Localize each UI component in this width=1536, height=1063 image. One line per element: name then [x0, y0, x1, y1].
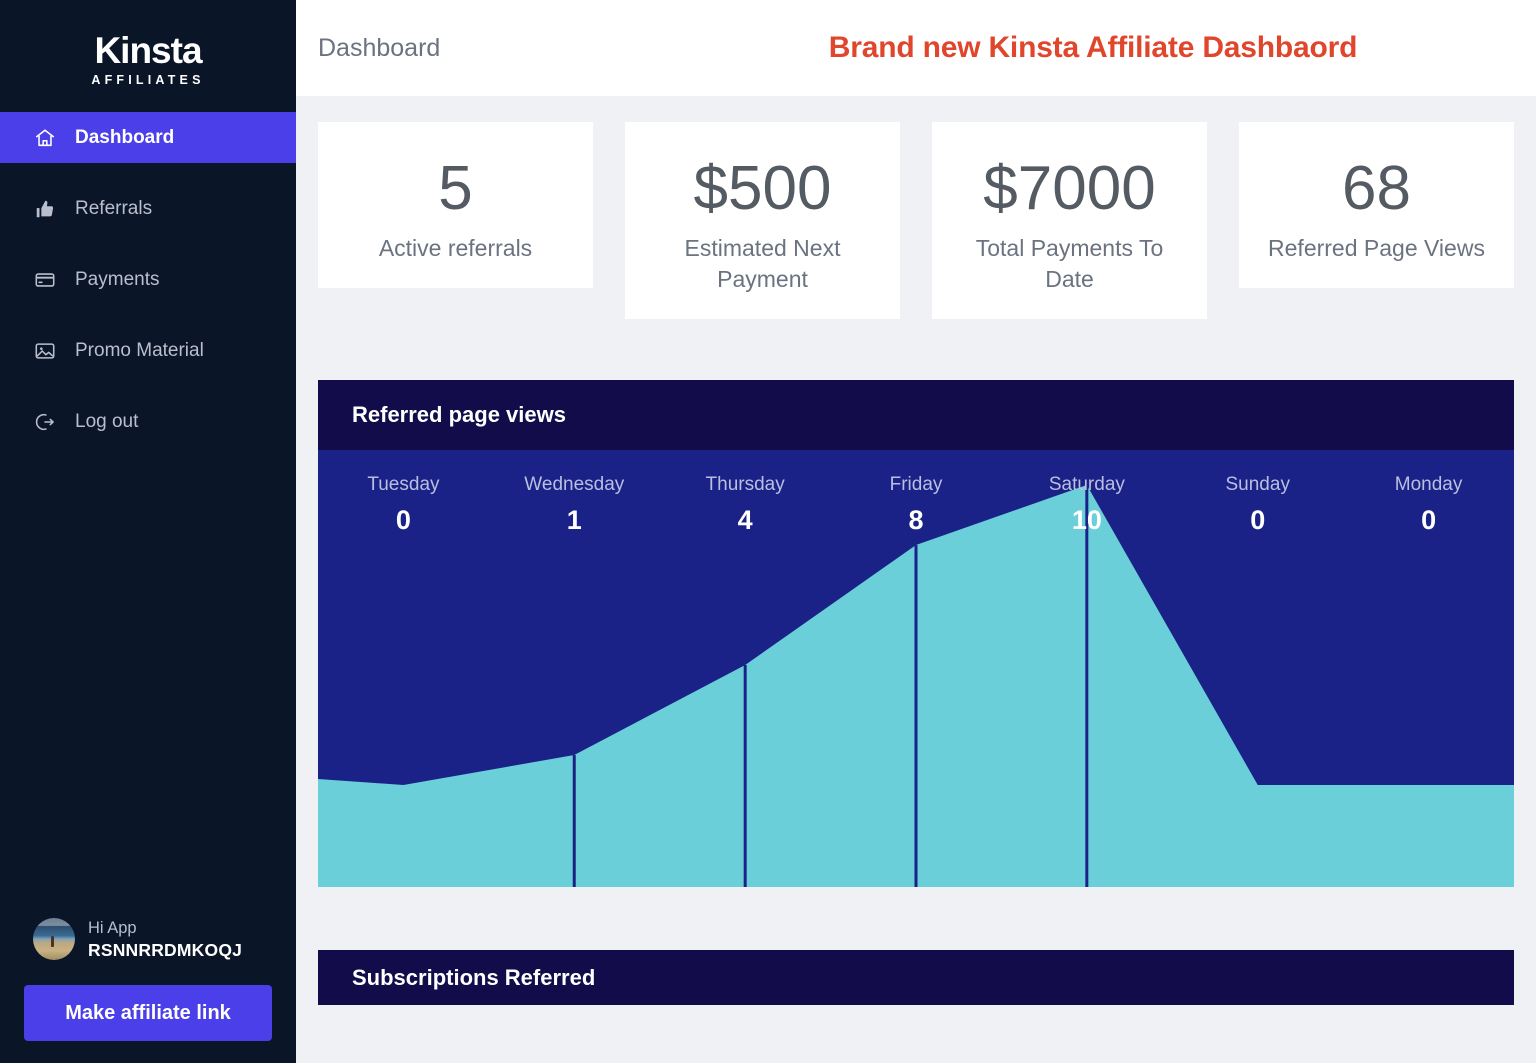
chart-day-name: Tuesday	[318, 474, 489, 497]
subscriptions-referred-panel: Subscriptions Referred	[318, 950, 1514, 1005]
sidebar-item-label: Promo Material	[75, 340, 204, 362]
chart-day-column: Monday 0	[1343, 474, 1514, 535]
stat-card-row: 5 Active referrals $500 Estimated Next P…	[318, 122, 1514, 319]
sidebar-nav: Dashboard Referrals	[0, 112, 296, 467]
sidebar: Kinsta AFFILIATES Dashboard	[0, 0, 296, 1063]
chart-day-value: 8	[831, 506, 1002, 536]
sidebar-item-label: Log out	[75, 411, 138, 433]
stat-label: Estimated Next Payment	[625, 233, 900, 295]
chart-day-strip: Tuesday 0 Wednesday 1 Thursday 4 Frida	[318, 450, 1514, 535]
brand-logo-main: Kinsta	[94, 32, 201, 69]
avatar	[33, 918, 75, 960]
stat-card-estimated-next-payment: $500 Estimated Next Payment	[625, 122, 900, 319]
chart-day-column: Friday 8	[831, 474, 1002, 535]
sidebar-item-referrals[interactable]: Referrals	[0, 183, 296, 234]
referred-page-views-panel: Referred page views Tuesday 0 Wednesday …	[318, 380, 1514, 887]
chart-day-name: Sunday	[1172, 474, 1343, 497]
chart-body: Tuesday 0 Wednesday 1 Thursday 4 Frida	[318, 450, 1514, 887]
brand-logo-sub: AFFILIATES	[91, 74, 204, 87]
user-text: Hi App RSNNRRDMKOQJ	[88, 918, 242, 962]
chart-day-column: Sunday 0	[1172, 474, 1343, 535]
app-root: Kinsta AFFILIATES Dashboard	[0, 0, 1536, 1063]
stat-value: $500	[625, 156, 900, 221]
page-headline: Brand new Kinsta Affiliate Dashbaord	[829, 31, 1357, 65]
sidebar-spacer	[0, 467, 296, 918]
thumbs-up-icon	[34, 198, 56, 220]
stat-value: 5	[318, 156, 593, 221]
top-bar: Dashboard Brand new Kinsta Affiliate Das…	[296, 0, 1536, 96]
sidebar-item-label: Payments	[75, 269, 159, 291]
sidebar-item-payments[interactable]: Payments	[0, 254, 296, 305]
panel-title: Referred page views	[352, 402, 566, 428]
chart-day-value: 4	[660, 506, 831, 536]
chart-day-name: Friday	[831, 474, 1002, 497]
chart-day-name: Monday	[1343, 474, 1514, 497]
chart-day-value: 0	[318, 506, 489, 536]
stat-value: $7000	[932, 156, 1207, 221]
user-affiliate-id: RSNNRRDMKOQJ	[88, 939, 242, 961]
chart-day-name: Saturday	[1001, 474, 1172, 497]
stat-card-total-payments-to-date: $7000 Total Payments To Date	[932, 122, 1207, 319]
chart-day-value: 10	[1001, 506, 1172, 536]
stat-label: Total Payments To Date	[932, 233, 1207, 295]
home-icon	[34, 127, 56, 149]
chart-day-value: 0	[1172, 506, 1343, 536]
sidebar-item-dashboard[interactable]: Dashboard	[0, 112, 296, 163]
stat-value: 68	[1239, 156, 1514, 221]
brand-logo[interactable]: Kinsta AFFILIATES	[0, 0, 296, 112]
logout-icon	[34, 411, 56, 433]
user-greeting: Hi App	[88, 918, 242, 939]
stat-label: Referred Page Views	[1239, 233, 1514, 264]
chart-day-column: Saturday 10	[1001, 474, 1172, 535]
sidebar-item-log-out[interactable]: Log out	[0, 396, 296, 447]
chart-day-name: Thursday	[660, 474, 831, 497]
chart-day-column: Thursday 4	[660, 474, 831, 535]
main-area: Dashboard Brand new Kinsta Affiliate Das…	[296, 0, 1536, 1063]
credit-card-icon	[34, 269, 56, 291]
make-affiliate-link-button[interactable]: Make affiliate link	[24, 985, 272, 1041]
stat-label: Active referrals	[318, 233, 593, 264]
image-icon	[34, 340, 56, 362]
breadcrumb: Dashboard	[318, 34, 440, 63]
chart-day-value: 0	[1343, 506, 1514, 536]
content-scroll: 5 Active referrals $500 Estimated Next P…	[296, 96, 1536, 1063]
sidebar-item-label: Referrals	[75, 198, 152, 220]
chart-day-column: Tuesday 0	[318, 474, 489, 535]
chart-day-column: Wednesday 1	[489, 474, 660, 535]
panel-title: Subscriptions Referred	[352, 965, 595, 991]
panel-header: Referred page views	[318, 380, 1514, 450]
stat-card-referred-page-views: 68 Referred Page Views	[1239, 122, 1514, 288]
avatar-figure	[51, 936, 54, 947]
sidebar-item-promo-material[interactable]: Promo Material	[0, 325, 296, 376]
sidebar-item-label: Dashboard	[75, 127, 174, 149]
user-profile[interactable]: Hi App RSNNRRDMKOQJ	[0, 918, 296, 962]
stat-card-active-referrals: 5 Active referrals	[318, 122, 593, 288]
chart-day-name: Wednesday	[489, 474, 660, 497]
chart-day-value: 1	[489, 506, 660, 536]
